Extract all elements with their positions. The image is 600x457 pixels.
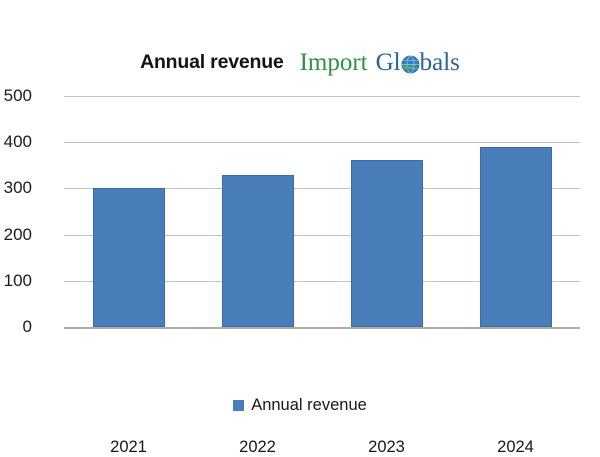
x-axis-tick-label: 2024 bbox=[466, 438, 566, 457]
legend-item-annual-revenue: Annual revenue bbox=[233, 396, 367, 415]
y-axis-tick-label: 100 bbox=[0, 271, 32, 291]
x-axis-tick-label: 2023 bbox=[337, 438, 437, 457]
bar-2021[interactable] bbox=[93, 188, 165, 327]
x-axis-tick-label: 2021 bbox=[79, 438, 179, 457]
y-axis-tick-label: 200 bbox=[0, 225, 32, 245]
chart-title: Annual revenue bbox=[140, 51, 284, 74]
y-axis-tick-label: 0 bbox=[0, 317, 32, 337]
legend-label: Annual revenue bbox=[251, 396, 367, 415]
logo-text-import: Import bbox=[300, 50, 368, 75]
legend-swatch-icon bbox=[233, 400, 244, 411]
x-axis-tick-label: 2022 bbox=[208, 438, 308, 457]
logo-text-gl: Gl bbox=[376, 50, 401, 75]
y-axis-tick-label: 300 bbox=[0, 178, 32, 198]
chart-header: Annual revenue Import Gl bals bbox=[0, 44, 600, 80]
gridline bbox=[64, 96, 580, 97]
logo-text-bals: bals bbox=[420, 50, 460, 75]
bar-2024[interactable] bbox=[480, 147, 552, 327]
y-axis-tick-label: 400 bbox=[0, 132, 32, 152]
globe-icon bbox=[401, 54, 420, 73]
chart-container: Annual revenue Import Gl bals 01 bbox=[0, 0, 600, 450]
bar-2022[interactable] bbox=[222, 175, 294, 327]
x-axis-line bbox=[64, 327, 580, 329]
bar-2023[interactable] bbox=[351, 160, 423, 327]
y-axis-tick-label: 500 bbox=[0, 86, 32, 106]
gridline bbox=[64, 142, 580, 143]
plot-area: 0100200300400500 2021202220232024 bbox=[64, 96, 580, 327]
chart-legend: Annual revenue bbox=[0, 396, 600, 415]
import-globals-logo: Import Gl bals bbox=[300, 50, 460, 75]
